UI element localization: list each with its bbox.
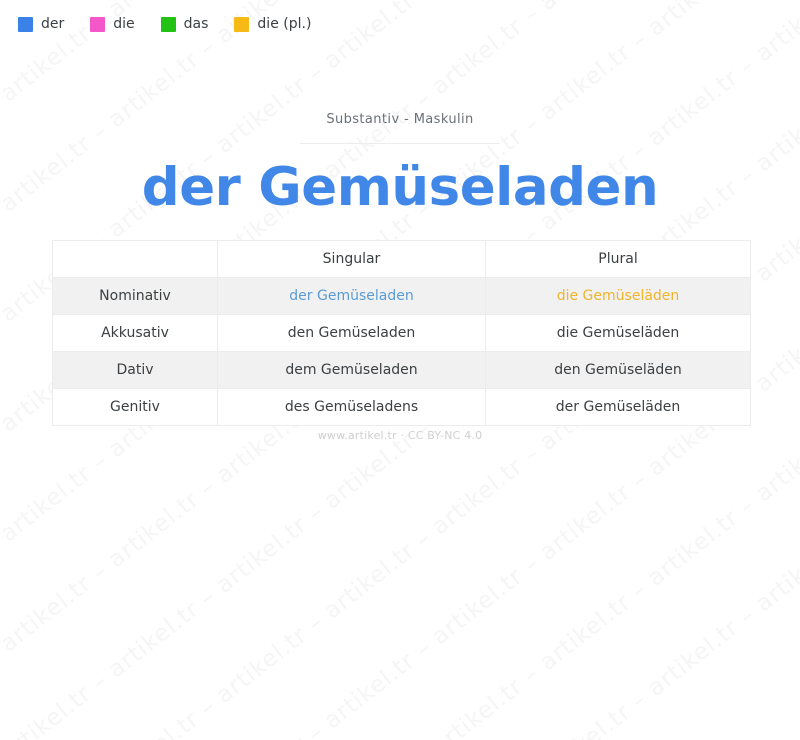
table-header-corner bbox=[53, 241, 218, 278]
table-header-plural: Plural bbox=[486, 241, 751, 278]
value-dativ-plural: den Gemüseläden bbox=[486, 352, 751, 389]
table-row: Akkusativ den Gemüseladen die Gemüseläde… bbox=[53, 315, 751, 352]
legend-label-die-plural: die (pl.) bbox=[257, 17, 311, 32]
case-label-akkusativ: Akkusativ bbox=[53, 315, 218, 352]
table-body: Nominativ der Gemüseladen die Gemüseläde… bbox=[53, 278, 751, 426]
legend-item-das: das bbox=[161, 17, 209, 32]
value-nominativ-plural: die Gemüseläden bbox=[486, 278, 751, 315]
article-color-legend: der die das die (pl.) bbox=[18, 17, 311, 32]
table-header-row: Singular Plural bbox=[53, 241, 751, 278]
value-dativ-singular: dem Gemüseladen bbox=[218, 352, 486, 389]
value-akkusativ-plural: die Gemüseläden bbox=[486, 315, 751, 352]
value-genitiv-plural: der Gemüseläden bbox=[486, 389, 751, 426]
case-label-nominativ: Nominativ bbox=[53, 278, 218, 315]
legend-label-das: das bbox=[184, 17, 209, 32]
table-row: Genitiv des Gemüseladens der Gemüseläden bbox=[53, 389, 751, 426]
color-swatch-icon-das bbox=[161, 17, 176, 32]
color-swatch-icon-die bbox=[90, 17, 105, 32]
color-swatch-icon-die-plural bbox=[234, 17, 249, 32]
table-row: Dativ dem Gemüseladen den Gemüseläden bbox=[53, 352, 751, 389]
card-header: Substantiv - Maskulin der Gemüseladen bbox=[0, 112, 800, 216]
value-nominativ-singular: der Gemüseladen bbox=[218, 278, 486, 315]
word-category-subtitle: Substantiv - Maskulin bbox=[0, 112, 800, 143]
table-header-singular: Singular bbox=[218, 241, 486, 278]
legend-item-die-plural: die (pl.) bbox=[234, 17, 311, 32]
page-title: der Gemüseladen bbox=[0, 144, 800, 216]
legend-item-der: der bbox=[18, 17, 64, 32]
case-label-genitiv: Genitiv bbox=[53, 389, 218, 426]
table-row: Nominativ der Gemüseladen die Gemüseläde… bbox=[53, 278, 751, 315]
table-head: Singular Plural bbox=[53, 241, 751, 278]
declension-card: der die das die (pl.) Substantiv - Masku… bbox=[0, 0, 800, 533]
value-genitiv-singular: des Gemüseladens bbox=[218, 389, 486, 426]
footer-attribution: www.artikel.tr · CC BY-NC 4.0 bbox=[0, 429, 800, 442]
case-label-dativ: Dativ bbox=[53, 352, 218, 389]
legend-item-die: die bbox=[90, 17, 134, 32]
declension-table: Singular Plural Nominativ der Gemüselade… bbox=[52, 240, 751, 426]
legend-label-der: der bbox=[41, 17, 64, 32]
value-akkusativ-singular: den Gemüseladen bbox=[218, 315, 486, 352]
color-swatch-icon-der bbox=[18, 17, 33, 32]
legend-label-die: die bbox=[113, 17, 134, 32]
